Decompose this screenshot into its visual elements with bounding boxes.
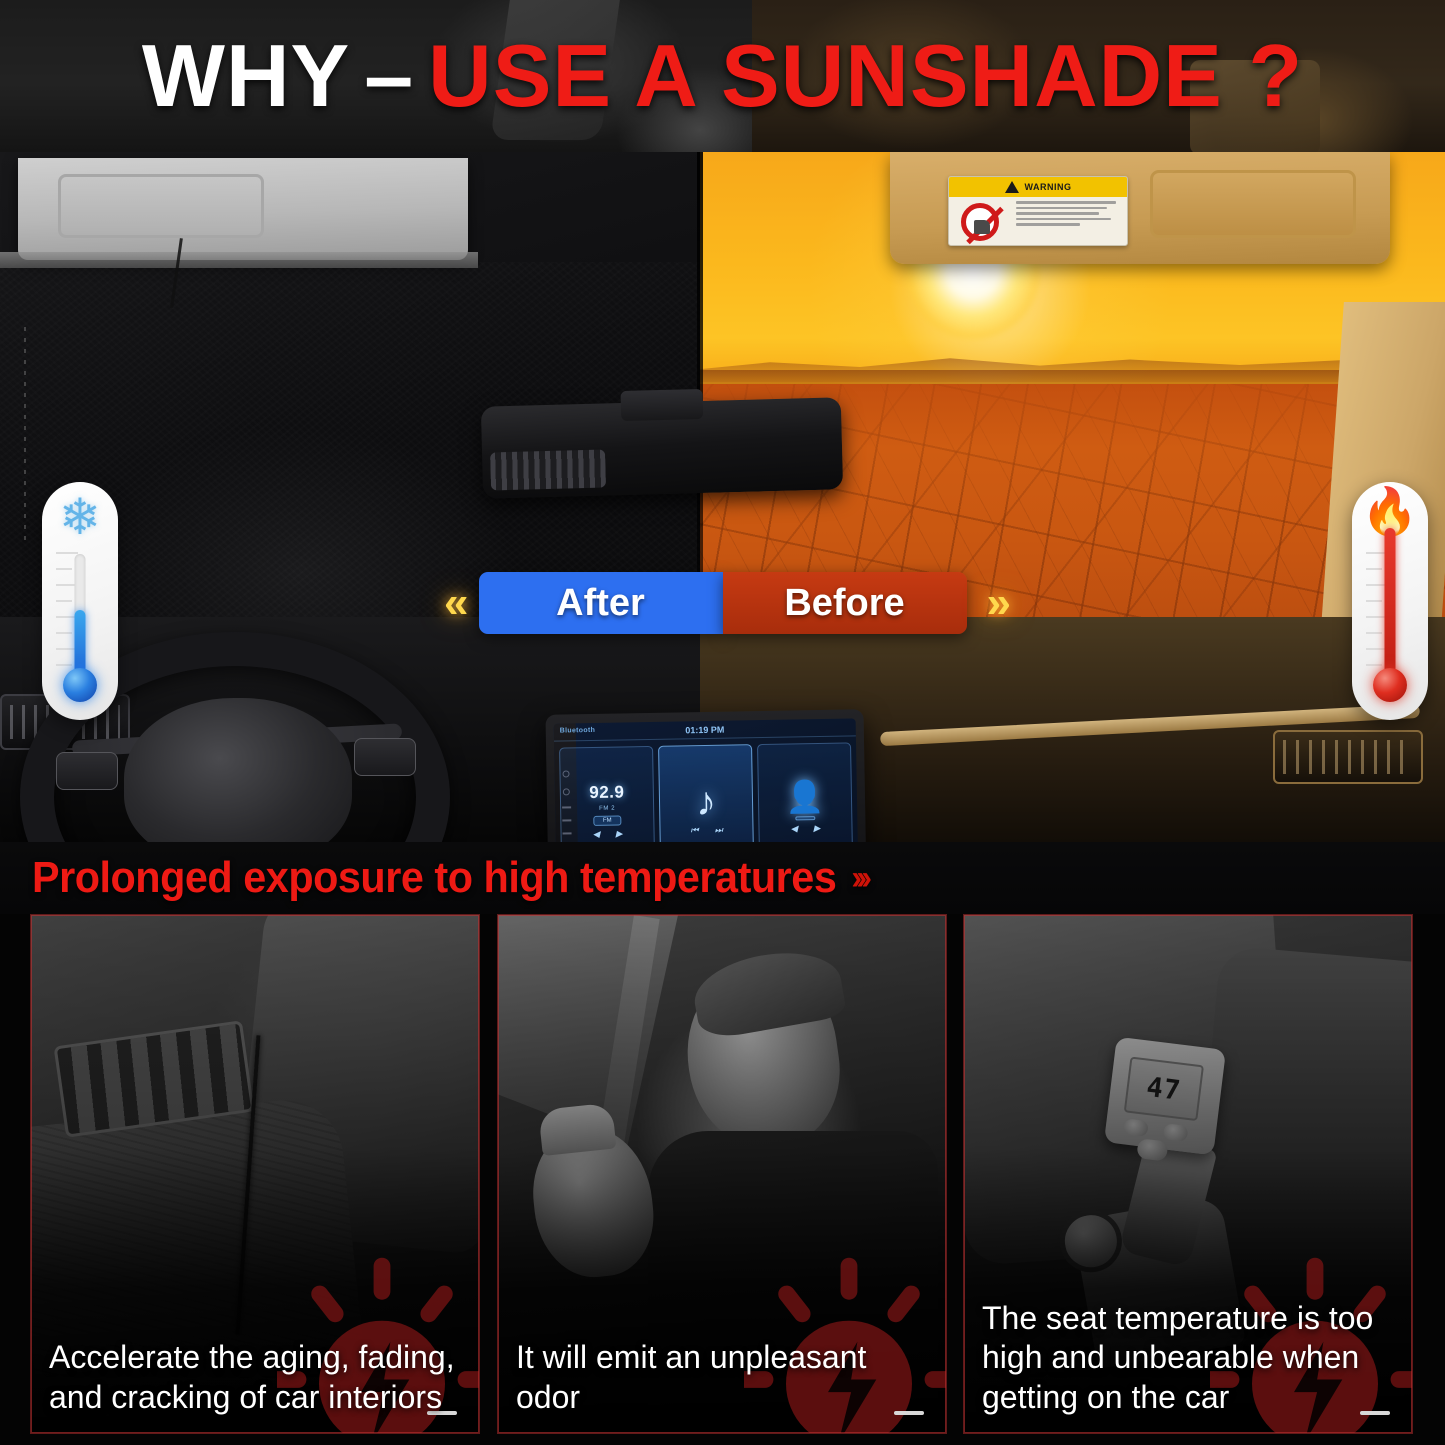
radio-frequency: 92.9 — [589, 782, 624, 803]
panel-caption: The seat temperature is too high and unb… — [964, 1299, 1412, 1433]
radio-seek-controls[interactable]: ◀ ▶ — [593, 828, 623, 840]
thermometer-bulb-hot — [1373, 668, 1407, 702]
warning-text-line — [1016, 201, 1116, 204]
panel-caption: It will emit an unpleasant odor — [498, 1338, 946, 1433]
warning-label-text-lines — [1011, 197, 1127, 246]
panel-caption: Accelerate the aging, fading, and cracki… — [31, 1338, 479, 1433]
sun-visor-left-edge — [0, 252, 478, 268]
sunshade-stitching — [24, 327, 26, 542]
warning-text-line — [1016, 212, 1099, 215]
title-word-why: WHY — [142, 25, 350, 127]
prohibition-circle — [961, 203, 999, 241]
chevron-left-icon: « — [444, 581, 468, 625]
steering-wheel-button-left — [56, 752, 118, 790]
hero-before-after-comparison: WARNING — [0, 152, 1445, 842]
warning-text-line — [1016, 223, 1080, 226]
steering-wheel-airbag-hub — [124, 698, 352, 842]
media-transport-controls[interactable]: ⏮ ⏭ — [690, 825, 722, 837]
warning-text-line — [1016, 218, 1111, 221]
radio-preset-pill[interactable]: FM — [593, 815, 622, 825]
infotainment-screen[interactable]: Bluetooth 01:19 PM 92.9 FM 2 FM ◀ ▶ ♪ — [554, 718, 859, 842]
panel-cracked-interior: Accelerate the aging, fading, and cracki… — [30, 914, 480, 1434]
radio-tile[interactable]: 92.9 FM 2 FM ◀ ▶ — [559, 746, 655, 842]
contact-prev-icon[interactable]: ◀ — [790, 823, 797, 834]
subheadline: Prolonged exposure to high temperatures … — [0, 853, 866, 903]
sun-visor-left — [18, 158, 468, 260]
subheadline-band: Prolonged exposure to high temperatures … — [0, 842, 1445, 914]
rearview-mirror-ridges — [490, 449, 606, 490]
header-banner: WHY – USE A SUNSHADE ? — [0, 0, 1445, 152]
subheadline-text: Prolonged exposure to high temperatures — [32, 853, 836, 903]
media-skip-next-icon[interactable]: ⏭ — [714, 825, 722, 836]
airbag-warning-label: WARNING — [948, 176, 1128, 246]
steering-wheel-button-right — [354, 738, 416, 776]
before-after-badge-group: « After Before » — [0, 572, 1445, 634]
rearview-mirror — [481, 397, 843, 498]
person-icon: 👤 — [785, 780, 824, 812]
child-seat-glyph — [974, 220, 990, 234]
page-title: WHY – USE A SUNSHADE ? — [0, 0, 1445, 152]
radio-band: FM 2 — [599, 805, 615, 811]
rearview-mirror-stem — [620, 389, 703, 421]
subheadline-chevrons-icon: ››› — [851, 859, 866, 898]
sunshade-marketing-poster: WHY – USE A SUNSHADE ? — [0, 0, 1445, 1445]
title-phrase-use-a-sunshade: USE A SUNSHADE ? — [428, 25, 1303, 127]
warning-label-header: WARNING — [949, 177, 1127, 197]
chevron-right-icon: » — [977, 581, 1001, 625]
radio-seek-prev-icon[interactable]: ◀ — [593, 828, 600, 839]
phone-contact-tile[interactable]: 👤 ◀ ▶ — [757, 742, 853, 842]
contact-pill[interactable] — [795, 816, 815, 820]
after-badge[interactable]: After — [479, 572, 723, 634]
thermometer-bulb-cold — [63, 668, 97, 702]
infotainment-tiles: 92.9 FM 2 FM ◀ ▶ ♪ ⏮ ⏭ — [554, 736, 858, 842]
before-badge[interactable]: Before — [723, 572, 967, 634]
panel-hot-seat: 47 The seat temperat — [963, 914, 1413, 1434]
warning-label-title: WARNING — [1025, 182, 1072, 192]
contact-nav-controls[interactable]: ◀ ▶ — [790, 823, 820, 835]
warning-triangle-icon — [1005, 181, 1019, 193]
infotainment-clock: 01:19 PM — [685, 724, 724, 735]
no-child-seat-icon — [949, 197, 1011, 246]
panel-unpleasant-odor: It will emit an unpleasant odor — [497, 914, 947, 1434]
media-skip-prev-icon[interactable]: ⏮ — [690, 825, 698, 836]
air-vent-right — [1273, 730, 1423, 784]
warning-label-body — [949, 197, 1127, 246]
bluetooth-source-label: Bluetooth — [560, 727, 595, 735]
radio-seek-next-icon[interactable]: ▶ — [615, 828, 622, 839]
contact-next-icon[interactable]: ▶ — [813, 823, 820, 834]
snowflake-icon: ❄ — [59, 492, 101, 542]
infotainment-head-unit: Bluetooth 01:19 PM 92.9 FM 2 FM ◀ ▶ ♪ — [545, 709, 866, 842]
title-dash: – — [350, 25, 428, 127]
media-tile[interactable]: ♪ ⏮ ⏭ — [658, 744, 754, 842]
consequence-panels: Accelerate the aging, fading, and cracki… — [0, 914, 1445, 1445]
warning-text-line — [1016, 207, 1107, 210]
music-note-icon: ♪ — [696, 782, 717, 822]
